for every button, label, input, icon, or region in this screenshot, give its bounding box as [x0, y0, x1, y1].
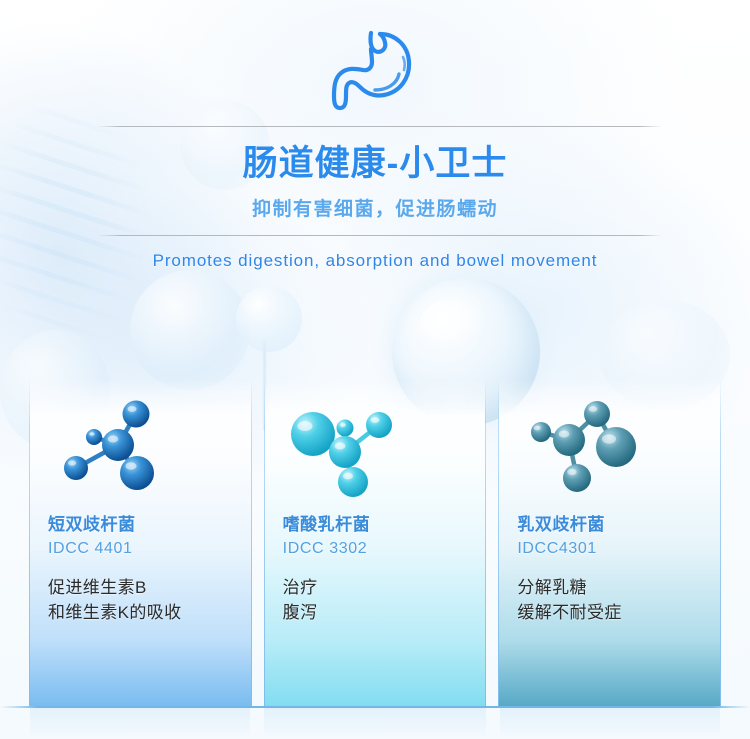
card-edge-left	[29, 378, 30, 706]
card-edge-right	[485, 378, 486, 706]
product-infographic-page: 肠道健康-小卫士 抑制有害细菌，促进肠蠕动 Promotes digestion…	[0, 0, 750, 739]
strain-panels: 短双歧杆菌 IDCC 4401 促进维生素B 和维生素K的吸收	[30, 378, 720, 706]
strain-description: 分解乳糖 缓解不耐受症	[517, 576, 710, 625]
stomach-icon	[327, 26, 423, 118]
divider-bottom	[98, 235, 662, 236]
strain-description: 治疗 腹泻	[283, 576, 476, 625]
card-reflection	[500, 708, 720, 738]
strain-name: 乳双歧杆菌	[517, 514, 710, 535]
molecule-icon	[517, 390, 647, 502]
page-tagline: Promotes digestion, absorption and bowel…	[0, 251, 750, 271]
strain-name: 短双歧杆菌	[48, 514, 241, 535]
molecule-icon	[48, 390, 168, 502]
strain-card-2: 嗜酸乳杆菌 IDCC 3302 治疗 腹泻	[265, 378, 486, 706]
card-text: 嗜酸乳杆菌 IDCC 3302 治疗 腹泻	[283, 514, 476, 626]
background-blob	[130, 270, 250, 390]
molecule-icon	[283, 390, 413, 502]
card-edge-right	[251, 378, 252, 706]
strain-name: 嗜酸乳杆菌	[283, 514, 476, 535]
card-edge-left	[264, 378, 265, 706]
strain-description: 促进维生素B 和维生素K的吸收	[48, 576, 241, 625]
card-edge-right	[720, 378, 721, 706]
page-title: 肠道健康-小卫士	[0, 135, 750, 186]
card-reflection	[30, 708, 250, 738]
card-edge-left	[498, 378, 499, 706]
background-sphere-small	[236, 286, 302, 352]
strain-card-1: 短双歧杆菌 IDCC 4401 促进维生素B 和维生素K的吸收	[30, 378, 251, 706]
strain-code: IDCC 4401	[48, 539, 241, 559]
stomach-icon-container	[0, 26, 750, 118]
card-text: 乳双歧杆菌 IDCC4301 分解乳糖 缓解不耐受症	[517, 514, 710, 626]
strain-code: IDCC4301	[517, 539, 710, 559]
strain-card-3: 乳双歧杆菌 IDCC4301 分解乳糖 缓解不耐受症	[499, 378, 720, 706]
page-subtitle: 抑制有害细菌，促进肠蠕动	[0, 194, 750, 221]
divider-top	[98, 126, 662, 127]
card-reflection	[264, 708, 486, 738]
card-text: 短双歧杆菌 IDCC 4401 促进维生素B 和维生素K的吸收	[48, 514, 241, 626]
strain-code: IDCC 3302	[283, 539, 476, 559]
